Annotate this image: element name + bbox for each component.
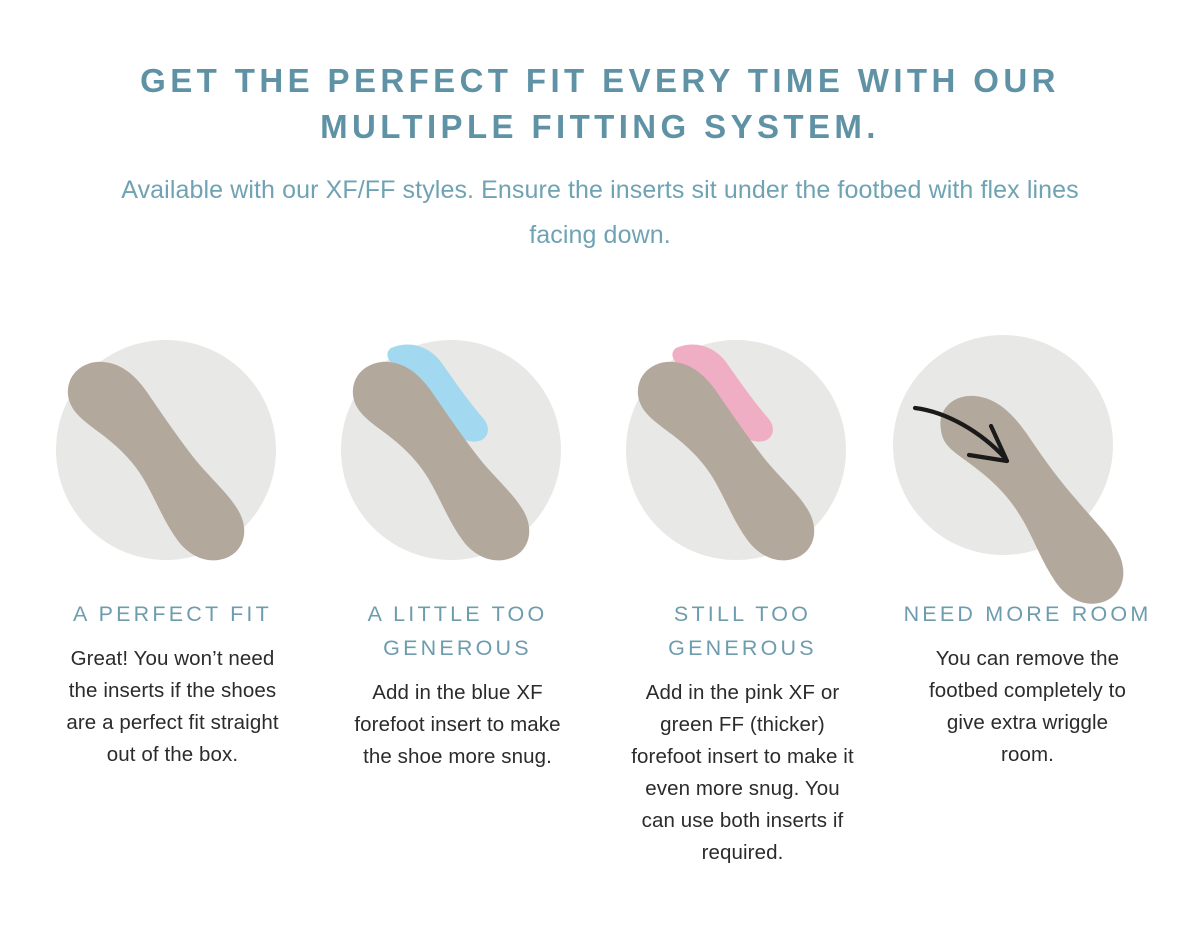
fitting-options-list: A Perfect Fit Great! You won’t need the … — [0, 330, 1200, 869]
fitting-option-a-little-too-generous: A Little Too Generous Add in the blue XF… — [315, 330, 600, 773]
fitting-option-body: Add in the blue XF forefoot insert to ma… — [353, 677, 563, 773]
fitting-option-body: Great! You won’t need the inserts if the… — [60, 643, 285, 771]
page-title: Get the perfect fit every time with our … — [70, 58, 1130, 150]
insole-pink-insert-icon — [618, 330, 868, 575]
fitting-option-title: Still Too Generous — [618, 597, 868, 665]
insole-blue-insert-icon — [333, 330, 583, 575]
fitting-option-need-more-room: Need More Room You can remove the footbe… — [885, 330, 1170, 771]
fitting-option-still-too-generous: Still Too Generous Add in the pink XF or… — [600, 330, 885, 869]
fitting-option-body: Add in the pink XF or green FF (thicker)… — [630, 677, 855, 869]
page-subtitle: Available with our XF/FF styles. Ensure … — [100, 168, 1100, 258]
insole-remove-arrow-icon — [903, 330, 1153, 575]
fitting-option-perfect-fit: A Perfect Fit Great! You won’t need the … — [30, 330, 315, 771]
fitting-option-body: You can remove the footbed completely to… — [919, 643, 1137, 771]
fitting-option-title: Need More Room — [903, 597, 1153, 631]
insole-plain-icon — [48, 330, 298, 575]
fitting-guide-page: Get the perfect fit every time with our … — [0, 0, 1200, 931]
header: Get the perfect fit every time with our … — [0, 58, 1200, 258]
fitting-option-title: A Perfect Fit — [48, 597, 298, 631]
fitting-option-title: A Little Too Generous — [333, 597, 583, 665]
